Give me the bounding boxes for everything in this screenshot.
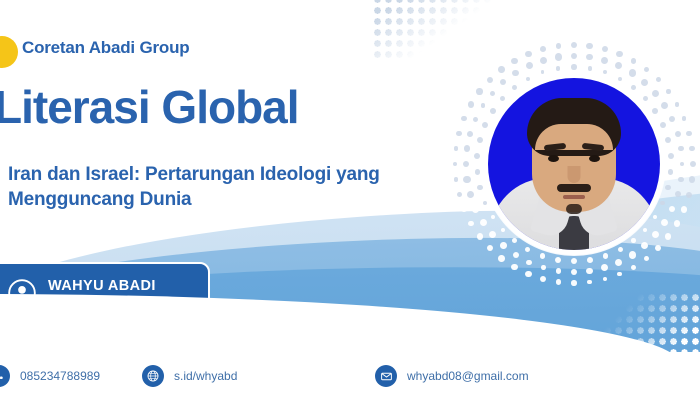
- globe-icon: [142, 365, 164, 387]
- contact-bar: 085234788989 s.id/whyabd: [0, 352, 700, 400]
- contact-email[interactable]: whyabd08@gmail.com: [375, 365, 529, 387]
- portrait-nose: [568, 166, 581, 183]
- page-title: Literasi Global: [0, 84, 299, 130]
- contact-phone-value: 085234788989: [20, 369, 100, 383]
- halftone-dots-top: [372, 0, 492, 60]
- portrait-frame: [483, 73, 665, 255]
- contact-website[interactable]: s.id/whyabd: [142, 365, 237, 387]
- mail-icon: [375, 365, 397, 387]
- poster-canvas: Coretan Abadi Group Literasi Global Iran…: [0, 0, 700, 400]
- page-subtitle: Iran dan Israel: Pertarungan Ideologi ya…: [8, 162, 428, 213]
- contact-phone[interactable]: 085234788989: [0, 365, 100, 387]
- contact-website-value: s.id/whyabd: [174, 369, 237, 383]
- portrait-hair: [527, 98, 621, 156]
- contact-email-value: whyabd08@gmail.com: [407, 369, 529, 383]
- portrait-chin-beard: [566, 204, 582, 214]
- brand-name: Coretan Abadi Group: [22, 38, 189, 58]
- portrait-photo: [488, 78, 660, 250]
- portrait-eye-right: [589, 155, 600, 162]
- portrait-mustache: [557, 184, 591, 192]
- portrait-eye-left: [548, 155, 559, 162]
- author-name: WAHYU ABADI: [48, 278, 156, 294]
- portrait-mouth: [563, 195, 585, 199]
- phone-icon: [0, 365, 10, 387]
